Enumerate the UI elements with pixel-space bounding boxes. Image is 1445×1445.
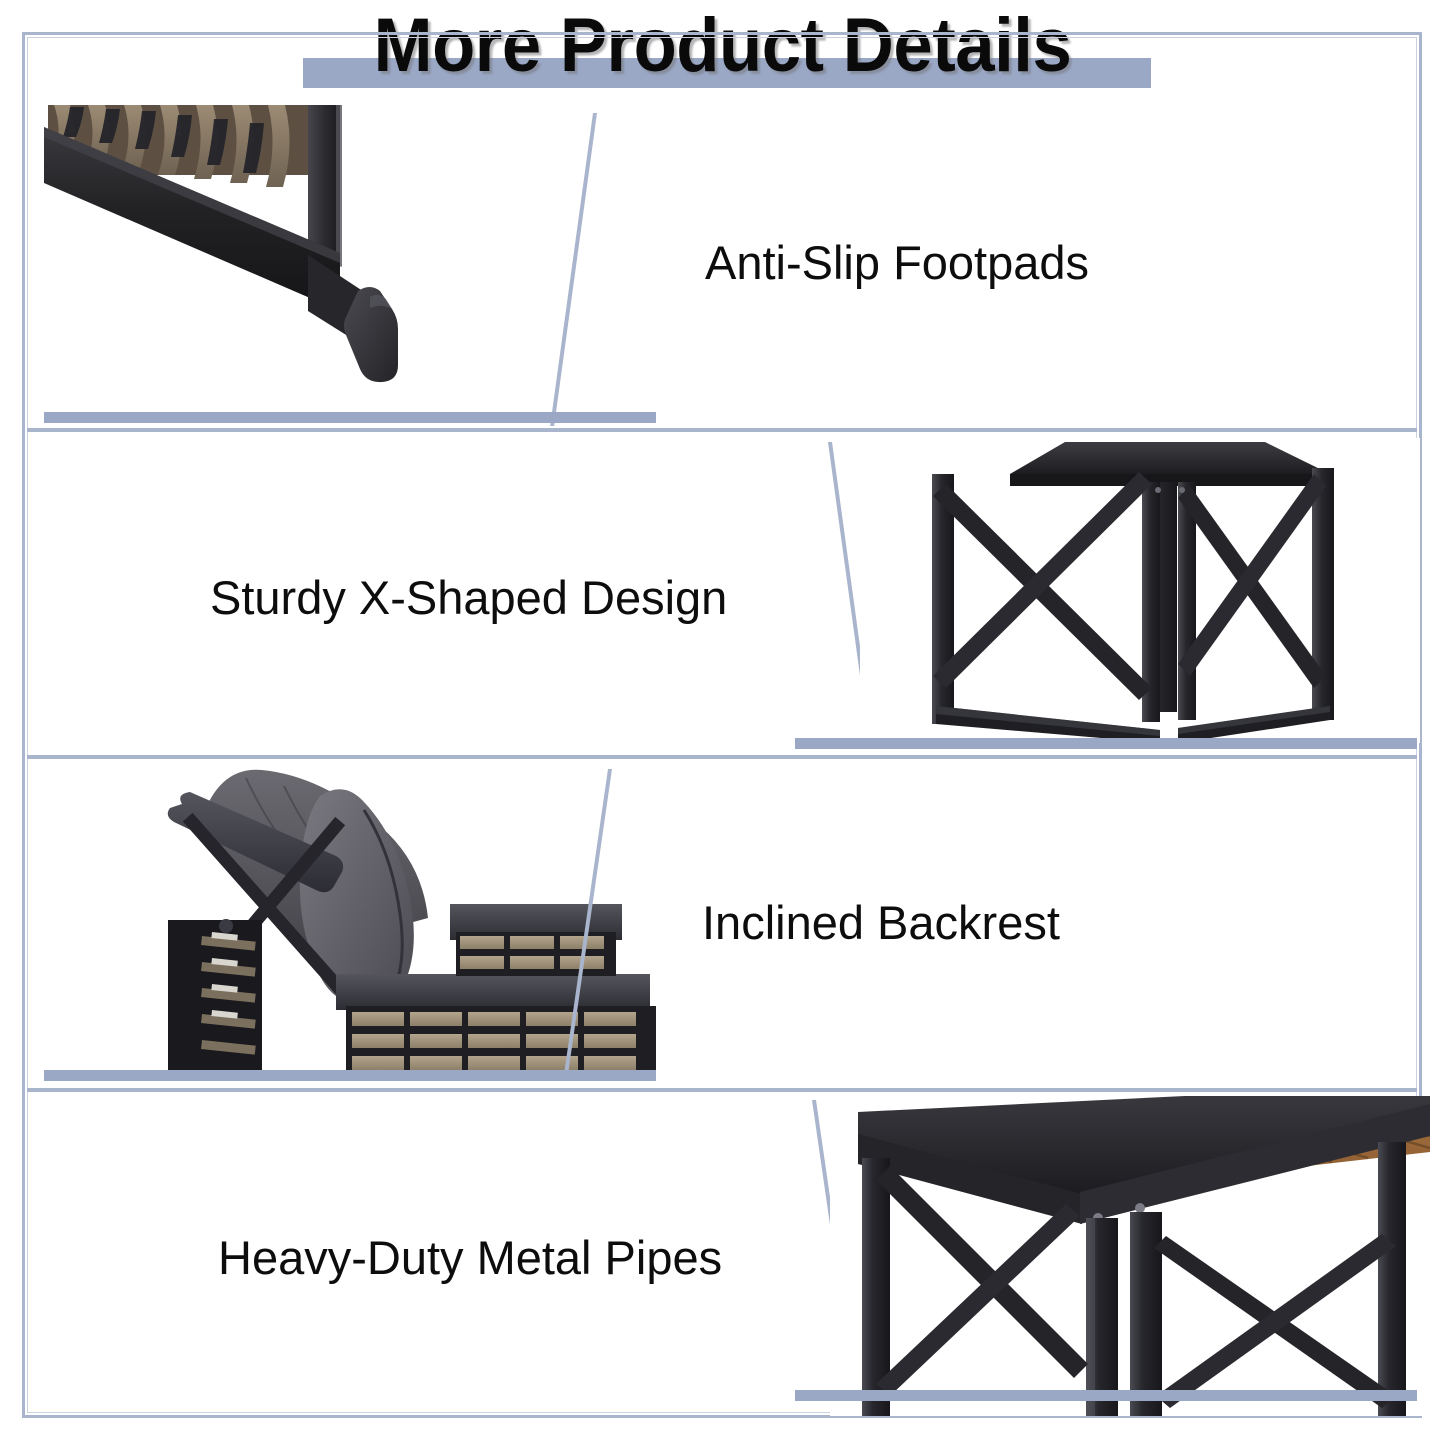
photo-x-braced-legs (860, 438, 1420, 743)
right-leg-frame (1178, 468, 1334, 743)
table-underside (1010, 442, 1330, 474)
center-pipe-right (1130, 1212, 1162, 1416)
section-bar-1 (44, 412, 656, 423)
section-bar-4 (795, 1390, 1417, 1401)
section-sturdy-x-shaped-design: Sturdy X-Shaped Design (0, 430, 1445, 755)
section-inclined-backrest: Inclined Backrest (0, 755, 1445, 1090)
photo-inclined-backrest-chair (150, 760, 670, 1080)
label-anti-slip-footpads: Anti-Slip Footpads (705, 235, 1089, 290)
rear-slat-panel (168, 919, 262, 1072)
photo-heavy-duty-table (830, 1096, 1430, 1416)
photo-anti-slip-footpad (40, 105, 620, 405)
label-inclined-backrest: Inclined Backrest (702, 895, 1060, 950)
corner-post (308, 105, 340, 265)
product-details-page: More Product Details (0, 0, 1445, 1445)
section-anti-slip-footpads: Anti-Slip Footpads (0, 95, 1445, 430)
wicker-panel-upper (456, 932, 616, 976)
section-bar-3 (44, 1070, 656, 1081)
wicker-panel-lower (346, 1006, 656, 1080)
seat-frame-front (336, 974, 650, 1010)
label-sturdy-x-shaped-design: Sturdy X-Shaped Design (210, 570, 727, 625)
section-bar-2 (795, 738, 1417, 749)
left-leg-frame (932, 472, 1160, 743)
section-heavy-duty-metal-pipes: Heavy-Duty Metal Pipes (0, 1090, 1445, 1420)
label-heavy-duty-metal-pipes: Heavy-Duty Metal Pipes (218, 1230, 722, 1285)
